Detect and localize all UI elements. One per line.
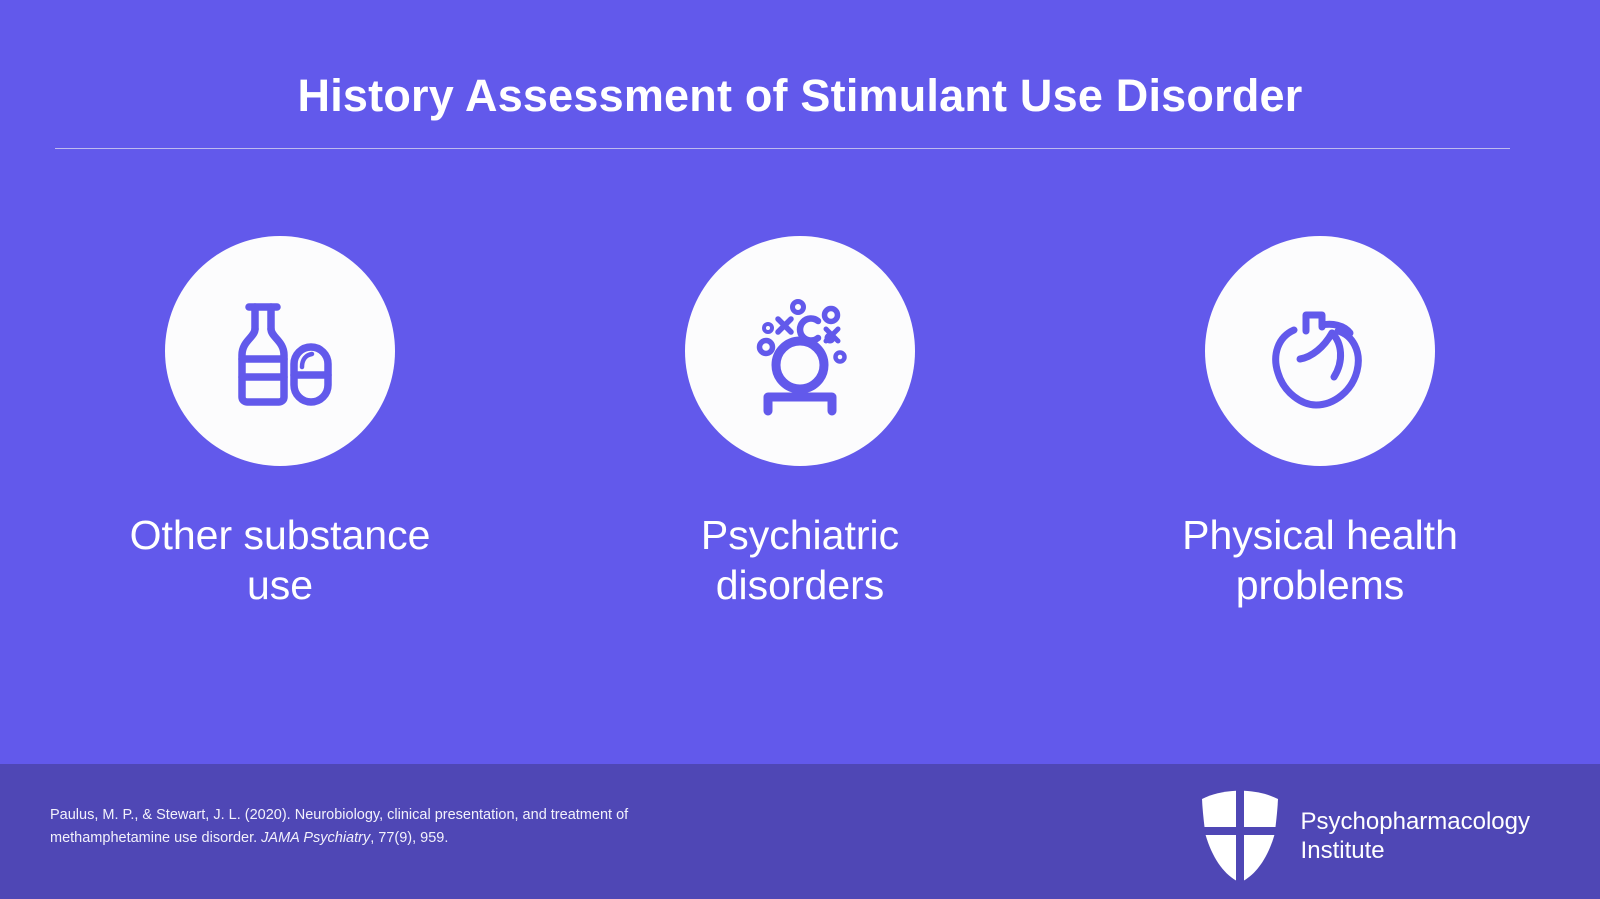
title-block: History Assessment of Stimulant Use Diso… [0, 70, 1600, 122]
brand-line-2: Institute [1301, 837, 1385, 864]
label-line-1: Psychiatric [701, 512, 899, 558]
citation-text: Paulus, M. P., & Stewart, J. L. (2020). … [50, 804, 710, 851]
label-line-2: use [247, 562, 313, 608]
label-line-1: Other substance [130, 512, 431, 558]
shield-logo-icon [1199, 790, 1281, 882]
column-other-substance-use: Other substance use [50, 236, 510, 610]
brand-line-1: Psychopharmacology [1301, 808, 1530, 835]
icon-badge-psychiatric-disorders [685, 236, 915, 466]
icon-badge-physical-health-problems [1205, 236, 1435, 466]
content-columns: Other substance use [50, 236, 1550, 610]
citation-line-1: Paulus, M. P., & Stewart, J. L. (2020). … [50, 807, 612, 823]
brand-lockup: Psychopharmacology Institute [1199, 790, 1530, 882]
anatomical-heart-icon [1254, 285, 1386, 417]
bottle-and-pill-icon [214, 285, 346, 417]
column-label-other-substance-use: Other substance use [130, 510, 431, 610]
column-physical-health-problems: Physical health problems [1090, 236, 1550, 610]
icon-badge-other-substance-use [165, 236, 395, 466]
footer-band: Paulus, M. P., & Stewart, J. L. (2020). … [0, 764, 1600, 899]
column-label-physical-health-problems: Physical health problems [1182, 510, 1458, 610]
label-line-1: Physical health [1182, 512, 1458, 558]
label-line-2: problems [1236, 562, 1405, 608]
brand-name: Psychopharmacology Institute [1301, 807, 1530, 866]
column-psychiatric-disorders: Psychiatric disorders [570, 236, 1030, 610]
citation-journal-name: JAMA Psychiatry [261, 830, 370, 846]
page-title: History Assessment of Stimulant Use Diso… [0, 70, 1600, 122]
column-label-psychiatric-disorders: Psychiatric disorders [701, 510, 899, 610]
title-divider [55, 148, 1510, 149]
confused-head-icon [734, 285, 866, 417]
label-line-2: disorders [716, 562, 885, 608]
citation-line-2-suffix: , 77(9), 959. [370, 830, 448, 846]
slide-canvas: History Assessment of Stimulant Use Diso… [0, 0, 1600, 899]
